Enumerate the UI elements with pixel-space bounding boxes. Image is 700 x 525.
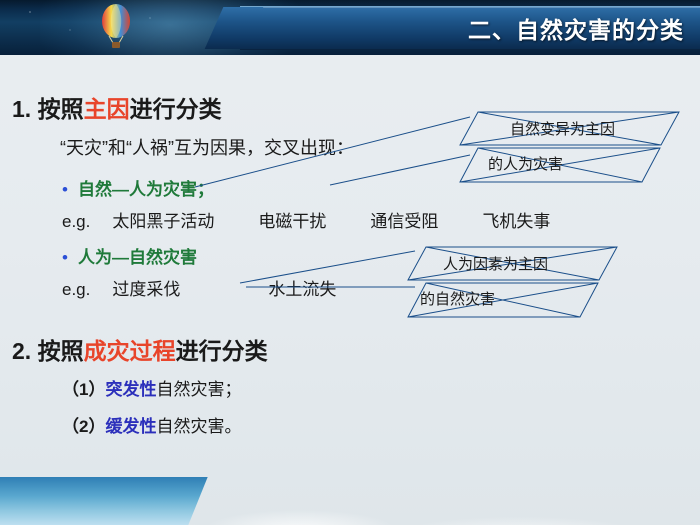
sub-item-2-number: （2） (62, 417, 105, 436)
heading-section-2: 2. 按照成灾过程进行分类 (12, 332, 268, 366)
sub-item-1: （1）突发性自然灾害； (62, 375, 241, 400)
bullet-item-1: •自然—人为灾害； (62, 175, 214, 200)
slide-title: 二、自然灾害的分类 (468, 11, 684, 45)
slide-content: 1. 按照主因进行分类 “天灾”和“人祸”互为因果，交叉出现： •自然—人为灾害… (0, 55, 700, 525)
example-1-prefix: e.g. (62, 212, 90, 231)
heading-2-text-before: 按照 (31, 338, 83, 364)
bullet-dot-icon: • (62, 180, 68, 199)
callout-box-2: 人为因素为主因 的自然灾害 (408, 245, 618, 320)
quote-line: “天灾”和“人祸”互为因果，交叉出现： (60, 134, 354, 160)
sub-item-1-number: （1） (62, 380, 105, 399)
callout-2-line-1: 人为因素为主因 (443, 253, 548, 274)
hot-air-balloon-icon (96, 2, 136, 50)
heading-2-text-after: 进行分类 (176, 338, 268, 364)
sub-item-1-rest: 自然灾害； (156, 380, 241, 399)
heading-2-highlight: 成灾过程 (84, 338, 176, 364)
bullet-1-label: 自然—人为灾害； (78, 180, 214, 199)
sub-item-2-highlight: 缓发性 (105, 417, 156, 436)
example-1-item-1: 太阳黑子活动 (112, 212, 214, 231)
heading-1-highlight: 主因 (84, 96, 130, 122)
heading-section-1: 1. 按照主因进行分类 (12, 90, 222, 124)
example-1-item-4: 飞机失事 (482, 212, 550, 231)
sub-item-2-rest: 自然灾害。 (156, 417, 241, 436)
bullet-item-2: •人为—自然灾害 (62, 243, 197, 268)
sub-item-1-highlight: 突发性 (105, 380, 156, 399)
example-2-item-2: 水土流失 (268, 280, 336, 299)
sub-item-2: （2）缓发性自然灾害。 (62, 412, 241, 437)
example-line-1: e.g.太阳黑子活动电磁干扰通信受阻飞机失事 (62, 207, 550, 232)
callout-2-line-2: 的自然灾害 (420, 288, 495, 309)
example-2-prefix: e.g. (62, 280, 90, 299)
heading-1-number: 1. (12, 96, 31, 122)
example-1-item-3: 通信受阻 (370, 212, 438, 231)
callout-1-line-2: 的人为灾害 (488, 153, 563, 174)
callout-1-line-1: 自然变异为主因 (510, 118, 615, 139)
example-1-item-2: 电磁干扰 (258, 212, 326, 231)
heading-1-text-after: 进行分类 (130, 96, 222, 122)
bottom-left-band-decoration (0, 477, 170, 525)
slide-title-bar: 二、自然灾害的分类 (0, 0, 700, 55)
heading-2-number: 2. (12, 338, 31, 364)
example-line-2: e.g.过度采伐水土流失 (62, 275, 336, 300)
bullet-dot-icon: • (62, 248, 68, 267)
example-2-item-1: 过度采伐 (112, 280, 180, 299)
slide: 二、自然灾害的分类 1. 按照主因进行分类 “天灾”和“人祸”互为因果，交叉出现… (0, 0, 700, 525)
bullet-2-label: 人为—自然灾害 (78, 248, 197, 267)
callout-box-1: 自然变异为主因 的人为灾害 (460, 110, 680, 185)
heading-1-text-before: 按照 (31, 96, 83, 122)
